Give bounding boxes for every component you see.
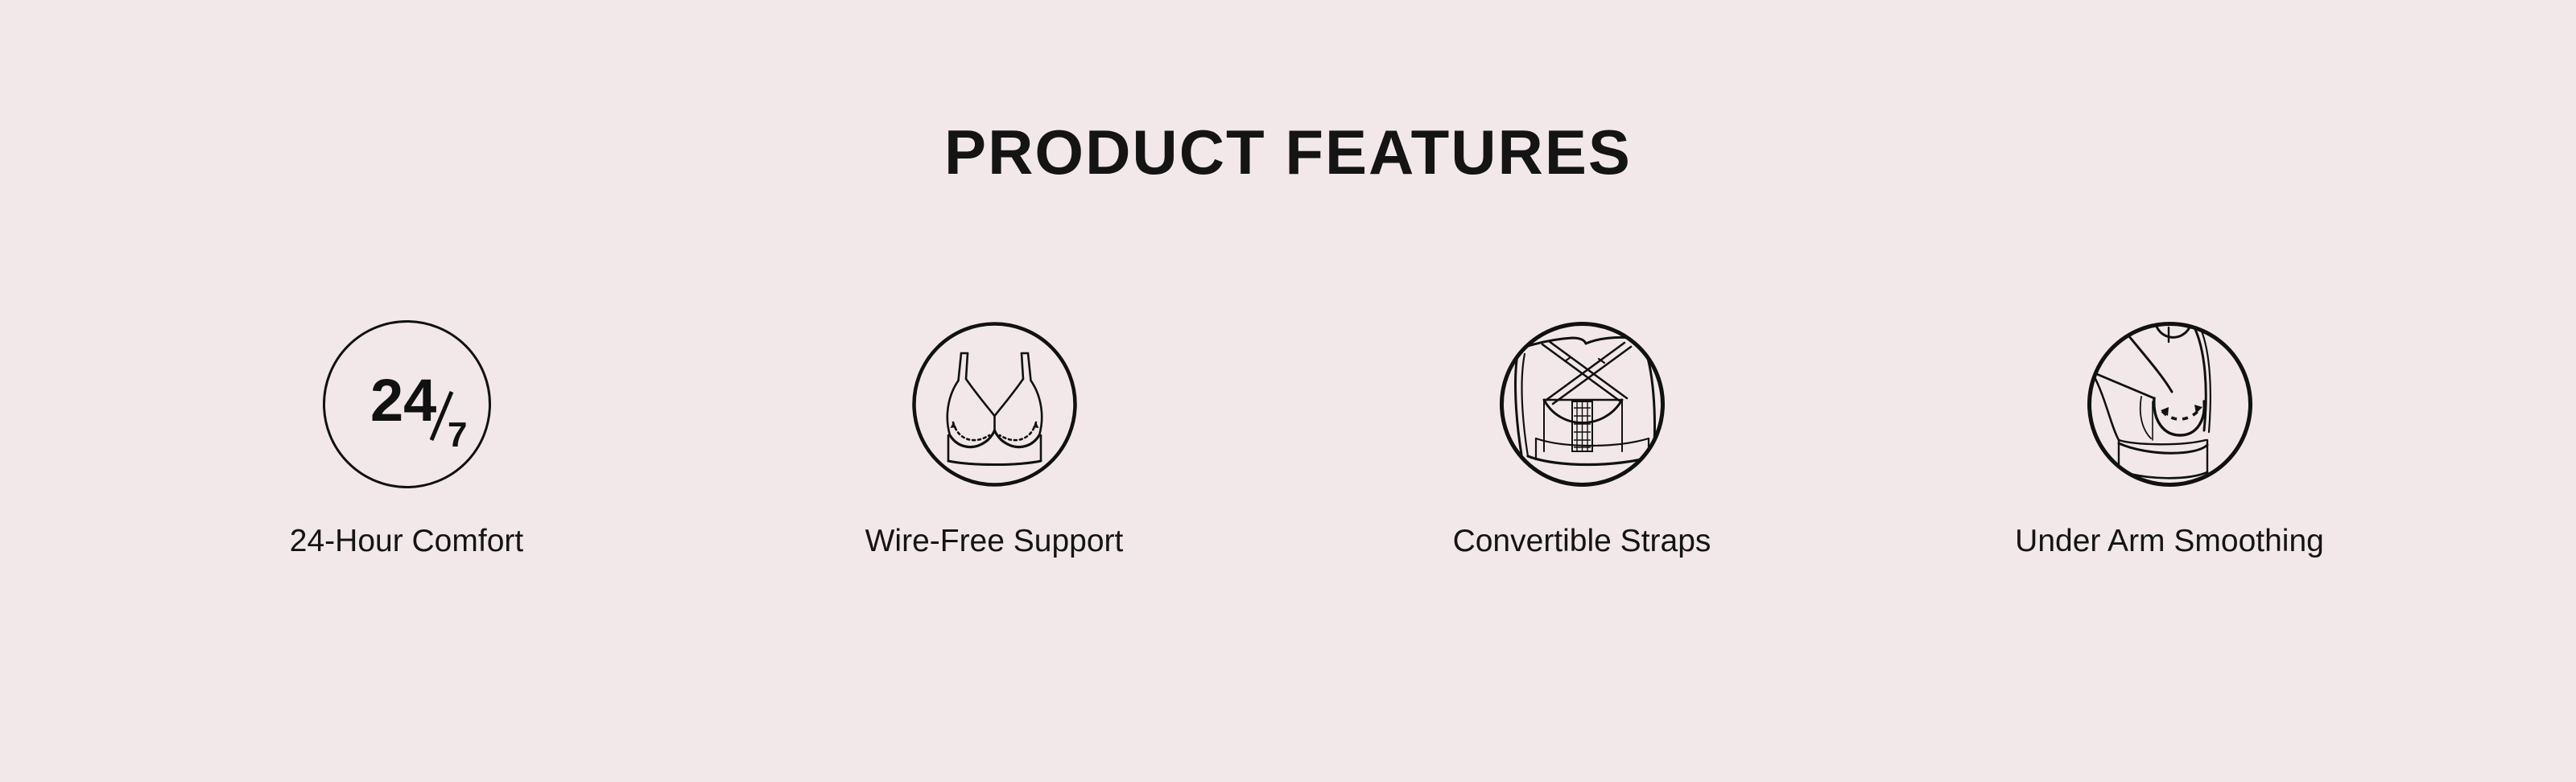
- product-features-banner: PRODUCT FEATURES 24 7 24-Hour Comfort: [0, 0, 2576, 782]
- under-arm-smoothing-circle-icon: [2083, 318, 2256, 491]
- page-title: PRODUCT FEATURES: [0, 121, 2576, 183]
- svg-text:7: 7: [448, 415, 467, 455]
- feature-label: 24-Hour Comfort: [290, 525, 523, 559]
- feature-item-24-hour-comfort[interactable]: 24 7 24-Hour Comfort: [113, 318, 700, 559]
- crossback-straps-circle-icon: [1496, 318, 1669, 491]
- svg-text:24: 24: [370, 367, 436, 434]
- 24-7-circle-icon: 24 7: [320, 318, 493, 491]
- feature-item-under-arm-smoothing[interactable]: Under Arm Smoothing: [1876, 318, 2463, 559]
- feature-label: Convertible Straps: [1453, 525, 1711, 559]
- feature-item-convertible-straps[interactable]: Convertible Straps: [1288, 318, 1876, 559]
- feature-label: Under Arm Smoothing: [2015, 525, 2324, 559]
- feature-label: Wire-Free Support: [865, 525, 1124, 559]
- wire-free-bra-circle-icon: [908, 318, 1081, 491]
- feature-item-wire-free-support[interactable]: Wire-Free Support: [700, 318, 1288, 559]
- features-row: 24 7 24-Hour Comfort: [0, 318, 2576, 559]
